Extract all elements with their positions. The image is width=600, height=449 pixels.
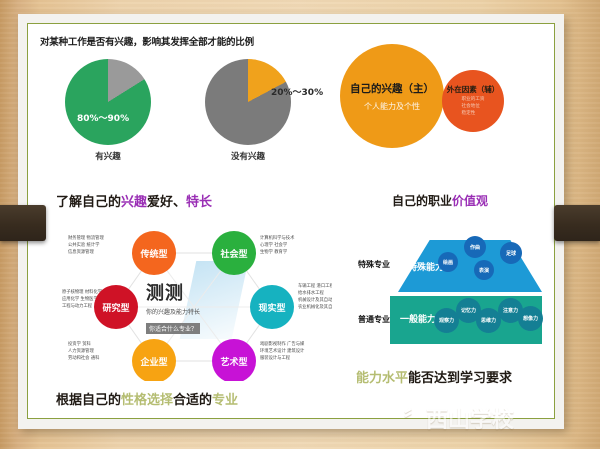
special-ability-bubble-2: 足球 [500,242,522,264]
major-line: 戏剧影视制作 广告与媒 [260,341,304,348]
external-factors-circle: 外在因素（辅） 职业的工资 社会地位 稳定性 [442,70,504,132]
pie-caption: 没有兴趣 [188,150,308,162]
major-line: 车辆工程 港口工程 [298,283,332,290]
pie-chart-interested: 80%～90% [65,59,151,145]
major-line: 生物学 教育学 [260,249,294,256]
interest-pie-chart-card: 对某种工作是否有兴趣，影响其发挥全部才能的比例 80%～90% 有兴趣 20%～… [38,34,328,184]
riasec-node-majors-5: 戏剧影视制作 广告与媒环境艺术设计 建筑设计服装设计与工程 [260,341,304,362]
school-watermark-logo: 〞 西山学校 [404,402,514,434]
pie-chart-title: 对某种工作是否有兴趣，影响其发挥全部才能的比例 [38,34,328,48]
caption-segment: 价值观 [452,194,488,208]
caption-segment: 根据自己的 [56,393,121,408]
riasec-node-0[interactable]: 传统型 [132,231,176,275]
caption-interests-hobbies: 了解自己的兴趣爱好、特长 [56,191,212,210]
external-factor-item: 职业的工资 [462,97,485,104]
major-line: 劳动和社会 通科 [68,355,99,362]
major-line: 农业机械化及其自动化 [298,304,332,311]
riasec-node-majors-3: 车辆工程 港口工程给水排水工程机械设计及其自动化农业机械化及其自动化 [298,283,332,311]
general-major-label: 普通专业 [358,314,390,325]
external-factors-title: 外在因素（辅） [447,84,500,95]
primary-interest-subtitle: 个人能力及个性 [364,101,420,112]
primary-interest-title: 自己的兴趣（主） [350,81,434,96]
pie-item: 80%～90% 有兴趣 [48,59,168,162]
riasec-node-3[interactable]: 现实型 [250,285,294,329]
caption-segment: 了解自己的 [56,195,121,210]
hexagon-center-title: 测测 [146,279,254,305]
caption-segment: 兴趣 [121,195,147,210]
caption-segment: 合适的 [173,393,212,408]
pie-caption: 有兴趣 [48,150,168,162]
caption-segment: 能力水平 [356,371,408,386]
hexagon-center-text: 测测 你的兴趣及能力特长 你适合什么专业？ [146,279,254,335]
major-line: 财务管理 物流管理 [68,235,104,242]
right-side-tab [554,205,600,241]
hexagon-center-question: 你适合什么专业？ [146,323,200,334]
ability-pyramid-card: 特殊专业 普通专业 特殊能力 一般能力 绘画作曲足球表演观察力记忆力思维力注意力… [352,228,548,362]
pie-chart-not-interested: 20%～30% [205,59,291,145]
major-line: 公共实验 统计学 [68,242,104,249]
major-line: 投资学 贸科 [68,341,99,348]
major-line: 心理学 社会学 [260,242,294,249]
riasec-node-2[interactable]: 研究型 [94,285,138,329]
major-line: 信息资源管理 [68,249,104,256]
riasec-node-majors-4: 投资学 贸科人力资源管理劳动和社会 通科 [68,341,99,362]
caption-segment: 性格选择 [121,393,173,408]
special-ability-bubble-1: 作曲 [464,236,486,258]
special-ability-bubble-0: 绘画 [438,252,458,272]
watermark-school-name: 西山学校 [426,402,514,434]
caption-segment: 能否达到学习要求 [408,371,512,386]
pie-item: 20%～30% 没有兴趣 [188,59,308,162]
external-factor-item: 社会地位 [462,104,485,111]
general-ability-title: 一般能力 [400,312,436,325]
slide-canvas: 对某种工作是否有兴趣，影响其发挥全部才能的比例 80%～90% 有兴趣 20%～… [0,0,600,449]
caption-career-values: 自己的职业价值观 [392,192,488,209]
career-values-circles-card: 自己的兴趣（主） 个人能力及个性 外在因素（辅） 职业的工资 社会地位 稳定性 [336,38,536,150]
major-line: 人力资源管理 [68,348,99,355]
caption-segment: 专业 [212,393,238,408]
left-side-tab [0,205,46,241]
pie-chart-body: 80%～90% 有兴趣 20%～30% 没有兴趣 [38,51,328,182]
riasec-node-majors-0: 财务管理 物流管理公共实验 统计学信息资源管理 [68,235,104,256]
riasec-hexagon-card: 测测 你的兴趣及能力特长 你适合什么专业？ 传统型财务管理 物流管理公共实验 统… [60,221,332,381]
external-factors-list: 职业的工资 社会地位 稳定性 [462,97,485,118]
major-line: 机械设计及其自动化 [298,297,332,304]
general-ability-bubble-4: 想像力 [518,306,543,331]
watermark-mark-icon: 〞 [404,402,423,434]
primary-interest-circle: 自己的兴趣（主） 个人能力及个性 [340,44,444,148]
riasec-node-majors-1: 计算机科学与技术心理学 社会学生物学 教育学 [260,235,294,256]
major-line: 计算机科学与技术 [260,235,294,242]
special-major-label: 特殊专业 [358,259,390,270]
caption-ability-level: 能力水平能否达到学习要求 [356,367,512,386]
special-ability-bubble-3: 表演 [474,260,494,280]
riasec-node-1[interactable]: 社会型 [212,231,256,275]
pie-value-label: 80%～90% [77,111,129,124]
pie-value-label: 20%～30% [271,85,323,98]
major-line: 给水排水工程 [298,290,332,297]
caption-segment: 特长 [186,195,212,210]
caption-segment: 爱好、 [147,195,186,210]
hexagon-center-subtitle: 你的兴趣及能力特长 [146,307,254,316]
caption-personality-major: 根据自己的性格选择合适的专业 [56,389,238,408]
major-line: 服装设计与工程 [260,355,304,362]
external-factor-item: 稳定性 [462,111,485,118]
caption-segment: 自己的职业 [392,194,452,208]
riasec-node-5[interactable]: 艺术型 [212,339,256,381]
major-line: 环境艺术设计 建筑设计 [260,348,304,355]
riasec-node-4[interactable]: 企业型 [132,339,176,381]
